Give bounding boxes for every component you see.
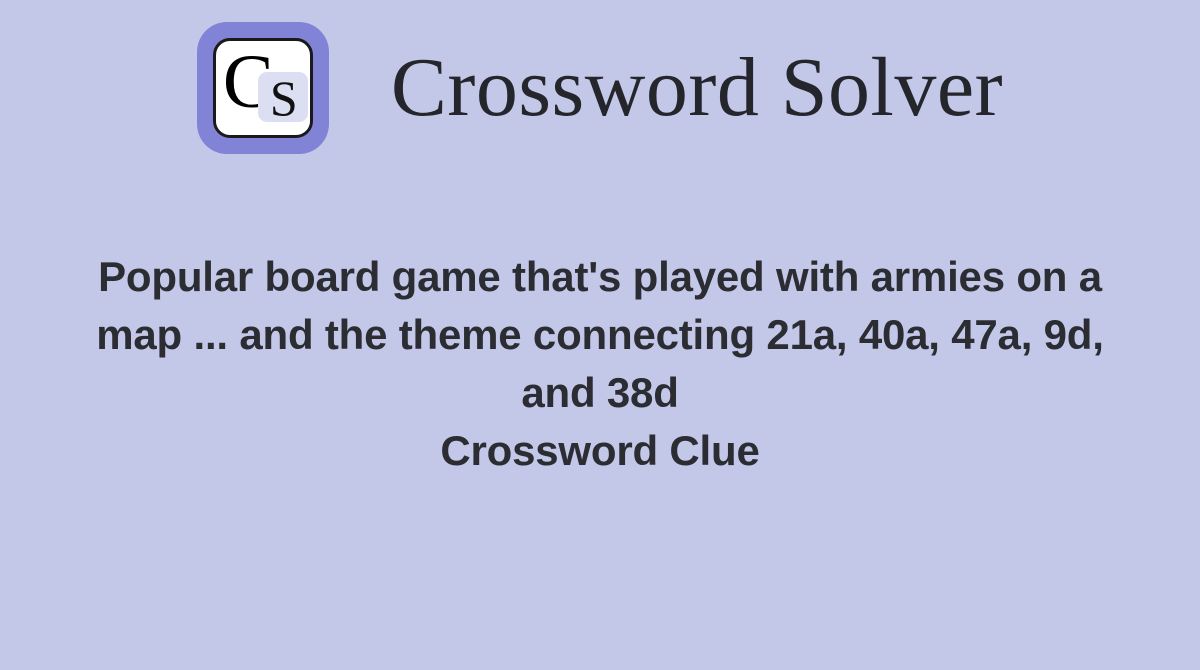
site-header: C S Crossword Solver [0, 22, 1200, 154]
site-title[interactable]: Crossword Solver [391, 44, 1003, 132]
page-root: C S Crossword Solver Popular board game … [0, 0, 1200, 670]
logo-card: C S [213, 38, 313, 138]
clue-suffix: Crossword Clue [60, 422, 1140, 480]
logo-letter-s: S [265, 69, 303, 127]
clue-text: Popular board game that's played with ar… [96, 253, 1103, 416]
page-title: Popular board game that's played with ar… [60, 248, 1140, 480]
crossword-solver-logo-icon[interactable]: C S [197, 22, 329, 154]
clue-section: Popular board game that's played with ar… [60, 248, 1140, 480]
